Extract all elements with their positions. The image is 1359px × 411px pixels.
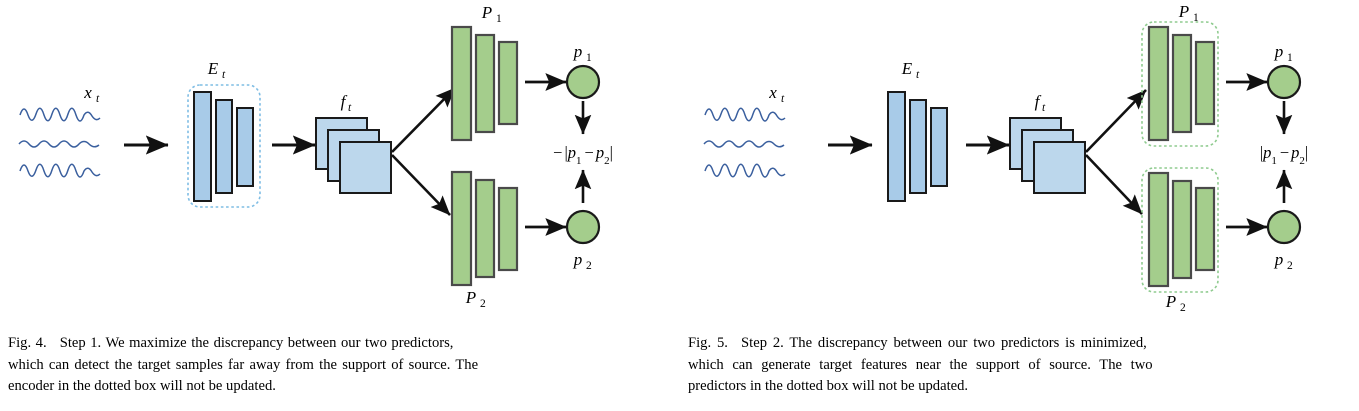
svg-text:E: E: [207, 59, 219, 78]
encoder-label: E t: [901, 59, 920, 81]
svg-text:2: 2: [480, 298, 486, 310]
caption-fig5: Fig. 5.Step 2. The discrepancy between o…: [688, 333, 1346, 398]
svg-text:t: t: [96, 93, 100, 105]
figure-page: x t E t: [0, 0, 1359, 411]
predictor-top-label: P 1: [1178, 2, 1199, 24]
caption-number-fig5: Fig. 5.: [688, 335, 728, 351]
svg-text:p: p: [573, 42, 583, 61]
output-top-node: [567, 66, 599, 98]
svg-text:p: p: [573, 250, 583, 269]
caption-line1-fig4: Step 1. We maximize the discrepancy betw…: [60, 335, 454, 351]
svg-text:|p1−p2|: |p1−p2|: [1260, 143, 1308, 167]
caption-fig4: Fig. 4.Step 1. We maximize the discrepan…: [8, 333, 666, 398]
output-bottom-node: [567, 211, 599, 243]
svg-text:2: 2: [1180, 302, 1186, 314]
arrow-branch-bottom: [392, 155, 450, 215]
svg-text:t: t: [916, 69, 920, 81]
encoder-bars: [194, 92, 253, 201]
predictor-bottom-label: P 2: [465, 288, 486, 310]
output-top-node: [1268, 66, 1300, 98]
diagram-step1: x t E t: [0, 0, 679, 315]
output-bottom-label: p 2: [573, 250, 592, 272]
svg-text:t: t: [1042, 102, 1046, 114]
predictor-top-label: P 1: [481, 3, 502, 25]
loss-expression: −|p1−p2|: [553, 143, 613, 167]
input-label: x t: [768, 83, 785, 105]
caption-line3-fig4: encoder in the dotted box will not be up…: [8, 376, 666, 398]
caption-line3-fig5: predictors in the dotted box will not be…: [688, 376, 1346, 398]
predictor-top-bars: [452, 27, 517, 140]
loss-expression: |p1−p2|: [1260, 143, 1308, 167]
svg-text:P: P: [481, 3, 492, 22]
caption-line2-fig4: which can detect the target samples far …: [8, 355, 666, 377]
predictor-bottom-bars: [1149, 173, 1214, 286]
output-top-label: p 1: [1274, 42, 1293, 64]
output-bottom-label: p 2: [1274, 250, 1293, 272]
svg-text:2: 2: [586, 260, 592, 272]
caption-line1-fig5: Step 2. The discrepancy between our two …: [741, 335, 1147, 351]
svg-text:t: t: [222, 69, 226, 81]
predictor-top-bars: [1149, 27, 1214, 140]
figure-right: x t E t: [680, 0, 1359, 411]
svg-text:1: 1: [496, 13, 502, 25]
feature-maps: [1010, 118, 1085, 193]
svg-text:x: x: [768, 83, 777, 102]
predictor-bottom-bars: [452, 172, 517, 285]
svg-text:1: 1: [1193, 12, 1199, 24]
input-waveforms: [19, 108, 100, 177]
svg-text:1: 1: [586, 52, 592, 64]
svg-text:2: 2: [1287, 260, 1293, 272]
svg-text:−|p1−p2|: −|p1−p2|: [553, 143, 613, 167]
svg-text:x: x: [83, 83, 92, 102]
svg-text:1: 1: [1287, 52, 1293, 64]
caption-line2-fig5: which can generate target features near …: [688, 355, 1346, 377]
input-label: x t: [83, 83, 100, 105]
svg-text:f: f: [341, 92, 348, 111]
output-top-label: p 1: [573, 42, 592, 64]
svg-text:t: t: [781, 93, 785, 105]
svg-text:P: P: [465, 288, 476, 307]
input-waveforms: [704, 108, 785, 177]
figure-left: x t E t: [0, 0, 679, 411]
svg-text:E: E: [901, 59, 913, 78]
feature-maps: [316, 118, 391, 193]
features-label: f t: [341, 92, 352, 114]
predictor-bottom-label: P 2: [1165, 292, 1186, 314]
svg-text:P: P: [1178, 2, 1189, 21]
encoder-bars: [888, 92, 947, 201]
svg-text:P: P: [1165, 292, 1176, 311]
arrow-branch-bottom: [1086, 155, 1142, 214]
svg-text:p: p: [1274, 42, 1284, 61]
output-bottom-node: [1268, 211, 1300, 243]
arrow-branch-top: [392, 88, 455, 152]
svg-text:t: t: [348, 102, 352, 114]
diagram-step2: x t E t: [680, 0, 1359, 315]
encoder-label: E t: [207, 59, 226, 81]
svg-text:f: f: [1035, 92, 1042, 111]
features-label: f t: [1035, 92, 1046, 114]
svg-text:p: p: [1274, 250, 1284, 269]
caption-number-fig4: Fig. 4.: [8, 335, 47, 351]
arrow-branch-top: [1086, 90, 1146, 152]
